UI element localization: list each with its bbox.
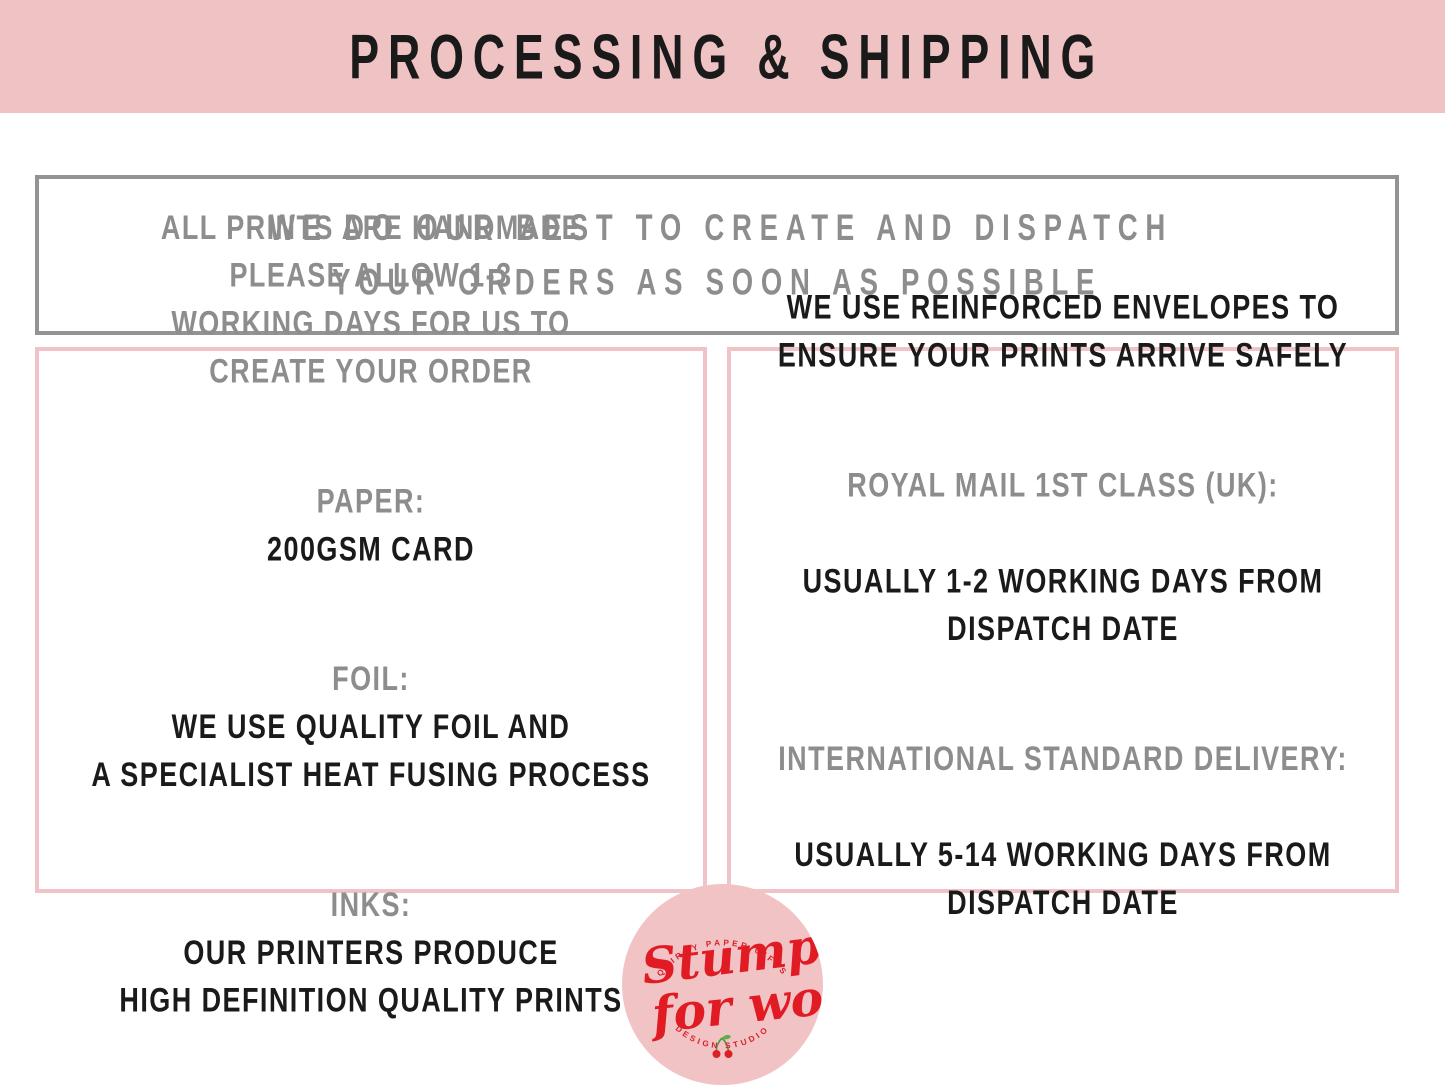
foil-value: WE USE QUALITY FOIL AND A SPECIALIST HEA…: [91, 708, 650, 794]
page-title: PROCESSING & SHIPPING: [341, 25, 1105, 88]
international-label: INTERNATIONAL STANDARD DELIVERY:: [778, 741, 1348, 779]
brand-logo-badge: QUIRKY PAPER GIFTS Stumped for words DES…: [622, 884, 823, 1085]
paper-value: 200GSM CARD: [267, 531, 475, 569]
brand-logo-svg: QUIRKY PAPER GIFTS Stumped for words DES…: [622, 884, 823, 1085]
panel-shipping-details: WE USE REINFORCED ENVELOPES TO ENSURE YO…: [727, 347, 1399, 893]
royal-mail-label: ROYAL MAIL 1ST CLASS (UK):: [847, 467, 1278, 505]
handmade-note: ALL PRINTS ARE HANDMADE PLEASE ALLOW 1-3…: [72, 205, 670, 397]
panel-production-details: ALL PRINTS ARE HANDMADE PLEASE ALLOW 1-3…: [35, 347, 707, 893]
international-spec: INTERNATIONAL STANDARD DELIVERY: USUALLY…: [764, 688, 1362, 927]
inks-value: OUR PRINTERS PRODUCE HIGH DEFINITION QUA…: [119, 934, 622, 1020]
envelopes-note: WE USE REINFORCED ENVELOPES TO ENSURE YO…: [764, 285, 1362, 381]
foil-spec: FOIL: WE USE QUALITY FOIL AND A SPECIALI…: [72, 608, 670, 800]
inks-label: INKS:: [331, 886, 412, 924]
inks-spec: INKS: OUR PRINTERS PRODUCE HIGH DEFINITI…: [72, 834, 670, 1026]
page-header-banner: PROCESSING & SHIPPING: [0, 0, 1445, 113]
royal-mail-spec: ROYAL MAIL 1ST CLASS (UK): USUALLY 1-2 W…: [764, 414, 1362, 653]
paper-spec: PAPER: 200GSM CARD: [72, 430, 670, 574]
international-value: USUALLY 5-14 WORKING DAYS FROM DISPATCH …: [794, 836, 1331, 922]
paper-label: PAPER:: [317, 483, 426, 521]
royal-mail-value: USUALLY 1-2 WORKING DAYS FROM DISPATCH D…: [803, 563, 1324, 649]
foil-label: FOIL:: [332, 661, 410, 699]
